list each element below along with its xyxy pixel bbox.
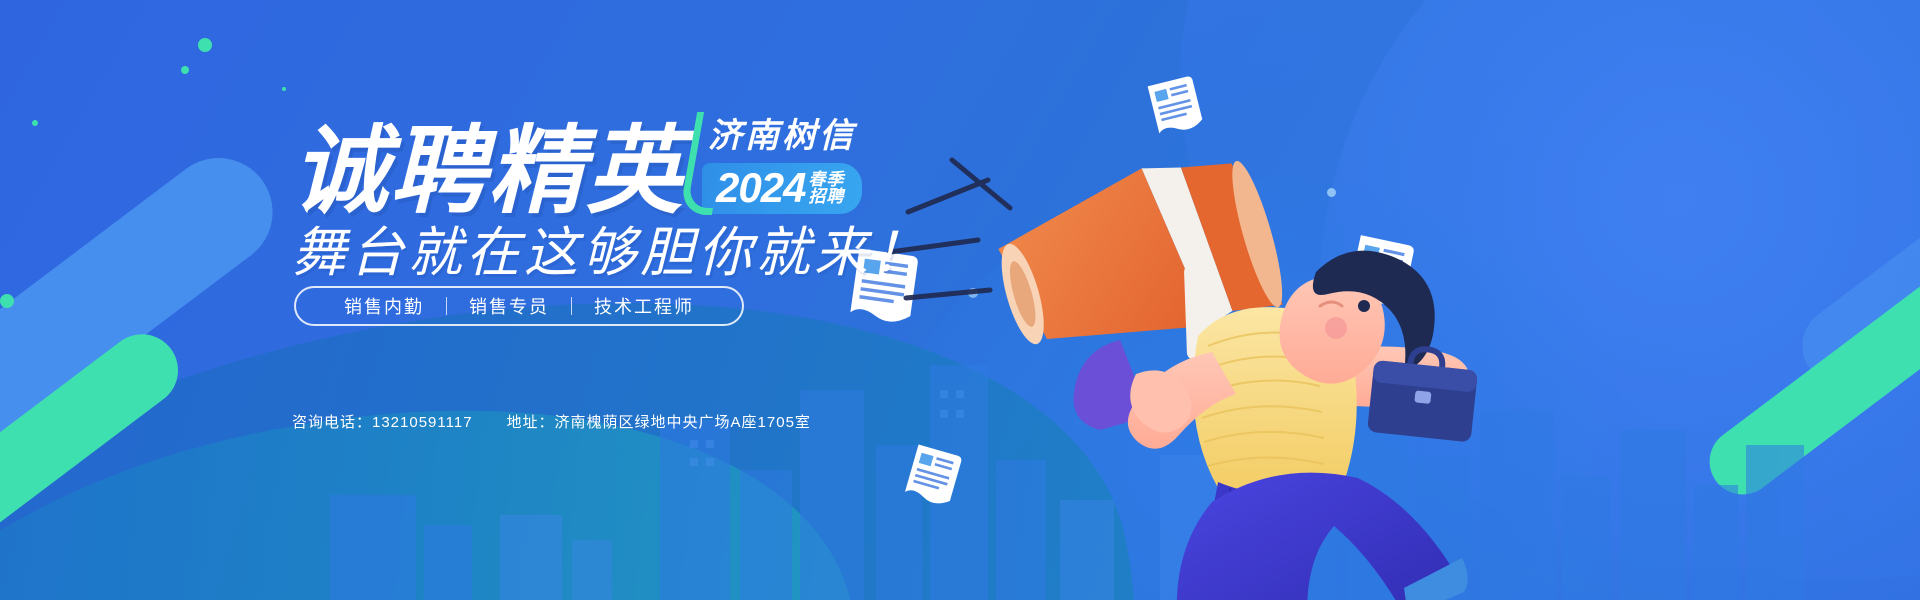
job-tag[interactable]: 销售专员 [447, 293, 571, 319]
contact-address: 地址：济南槐荫区绿地中央广场A座1705室 [507, 411, 811, 432]
badge-year: 2024 [716, 167, 805, 209]
year-badge: 2024 春季 招聘 [702, 163, 862, 214]
subtitle: 舞台就在这够胆你就来！ [292, 208, 930, 287]
badge-season: 春季 招聘 [808, 171, 844, 206]
contact-row: 咨询电话：13210591117 地址：济南槐荫区绿地中央广场A座1705室 [292, 411, 811, 432]
job-tag[interactable]: 技术工程师 [572, 293, 716, 319]
job-tag[interactable]: 销售内勤 [322, 293, 446, 319]
company-badge-block: 济南树信 2024 春季 招聘 [702, 108, 862, 214]
banner-content: 诚聘精英 济南树信 2024 春季 招聘 舞台就在这够胆你就来！ 销售内勤销售专… [0, 0, 1920, 600]
job-tags-pill: 销售内勤销售专员技术工程师 [294, 286, 744, 326]
company-name: 济南树信 [708, 108, 856, 157]
badge-season-line1: 春季 [808, 171, 844, 188]
contact-phone: 咨询电话：13210591117 [292, 411, 473, 432]
headline-row: 诚聘精英 济南树信 2024 春季 招聘 [292, 108, 862, 220]
page-title: 诚聘精英 [292, 124, 684, 220]
badge-season-line2: 招聘 [808, 188, 844, 205]
recruitment-banner: 诚聘精英 济南树信 2024 春季 招聘 舞台就在这够胆你就来！ 销售内勤销售专… [0, 0, 1920, 600]
